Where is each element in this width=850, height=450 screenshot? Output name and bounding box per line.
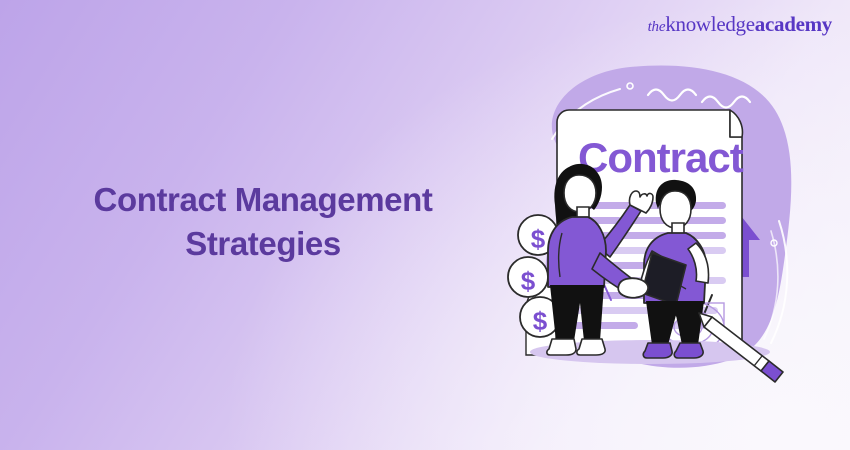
svg-text:$: $: [533, 306, 548, 336]
person-right-shoe-1: [643, 343, 672, 358]
person-left-shoe-1: [547, 339, 576, 355]
contract-illustration: Contract: [480, 55, 840, 400]
banner-image: theknowledgeacademy Contract Management …: [0, 0, 850, 450]
logo-word-knowledge: knowledge: [665, 12, 754, 36]
dollar-coin-2: $: [508, 257, 548, 297]
person-left-top: [548, 217, 606, 287]
page-title: Contract Management Strategies: [28, 178, 498, 266]
handshake-icon: [618, 278, 648, 298]
page-title-line-1: Contract Management: [28, 178, 498, 222]
page-title-line-2: Strategies: [28, 222, 498, 266]
person-right-shoe-2: [674, 343, 703, 358]
person-left-shoe-2: [577, 339, 605, 355]
svg-text:$: $: [521, 266, 536, 296]
document-heading: Contract: [578, 134, 744, 181]
svg-text:$: $: [531, 224, 546, 254]
logo-word-the: the: [648, 19, 666, 35]
brand-logo[interactable]: theknowledgeacademy: [648, 14, 832, 35]
logo-word-academy: academy: [755, 12, 832, 36]
